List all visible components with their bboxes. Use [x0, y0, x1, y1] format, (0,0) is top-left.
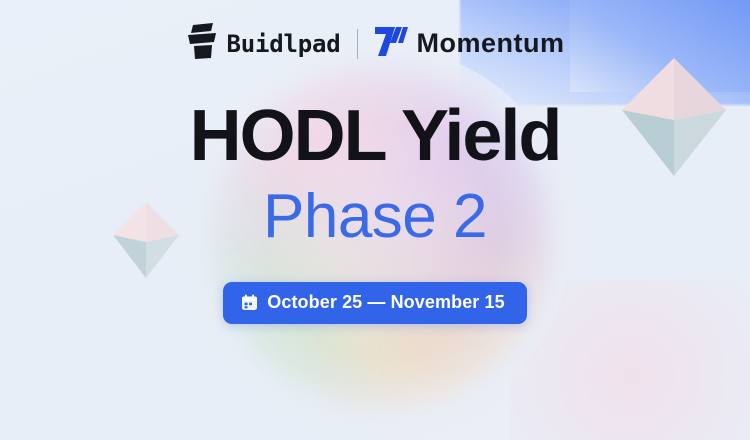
date-range-button[interactable]: October 25 — November 15: [223, 282, 527, 324]
brand-momentum[interactable]: Momentum: [374, 25, 565, 62]
momentum-logo-shape: [374, 25, 408, 57]
calendar-icon: [241, 294, 258, 311]
date-range-label: October 25 — November 15: [267, 292, 505, 313]
page-title: HODL Yield: [190, 100, 561, 172]
promo-banner: Buidlpad Momentum HODL Yield Phase 2: [0, 0, 750, 440]
momentum-slash-logo-icon: [374, 25, 408, 62]
page-subtitle: Phase 2: [263, 186, 487, 248]
main-content: HODL Yield Phase 2 October 25 — November…: [0, 100, 750, 324]
brand-divider: [357, 29, 358, 59]
buidlpad-stack-logo-icon: [186, 22, 218, 65]
momentum-wordmark: Momentum: [417, 28, 565, 59]
brand-buidlpad[interactable]: Buidlpad: [186, 22, 341, 65]
brand-lockup: Buidlpad Momentum: [0, 22, 750, 65]
buidlpad-logo-shape: [186, 22, 218, 60]
calendar-icon-shape: [241, 294, 258, 311]
buidlpad-wordmark: Buidlpad: [227, 30, 341, 58]
